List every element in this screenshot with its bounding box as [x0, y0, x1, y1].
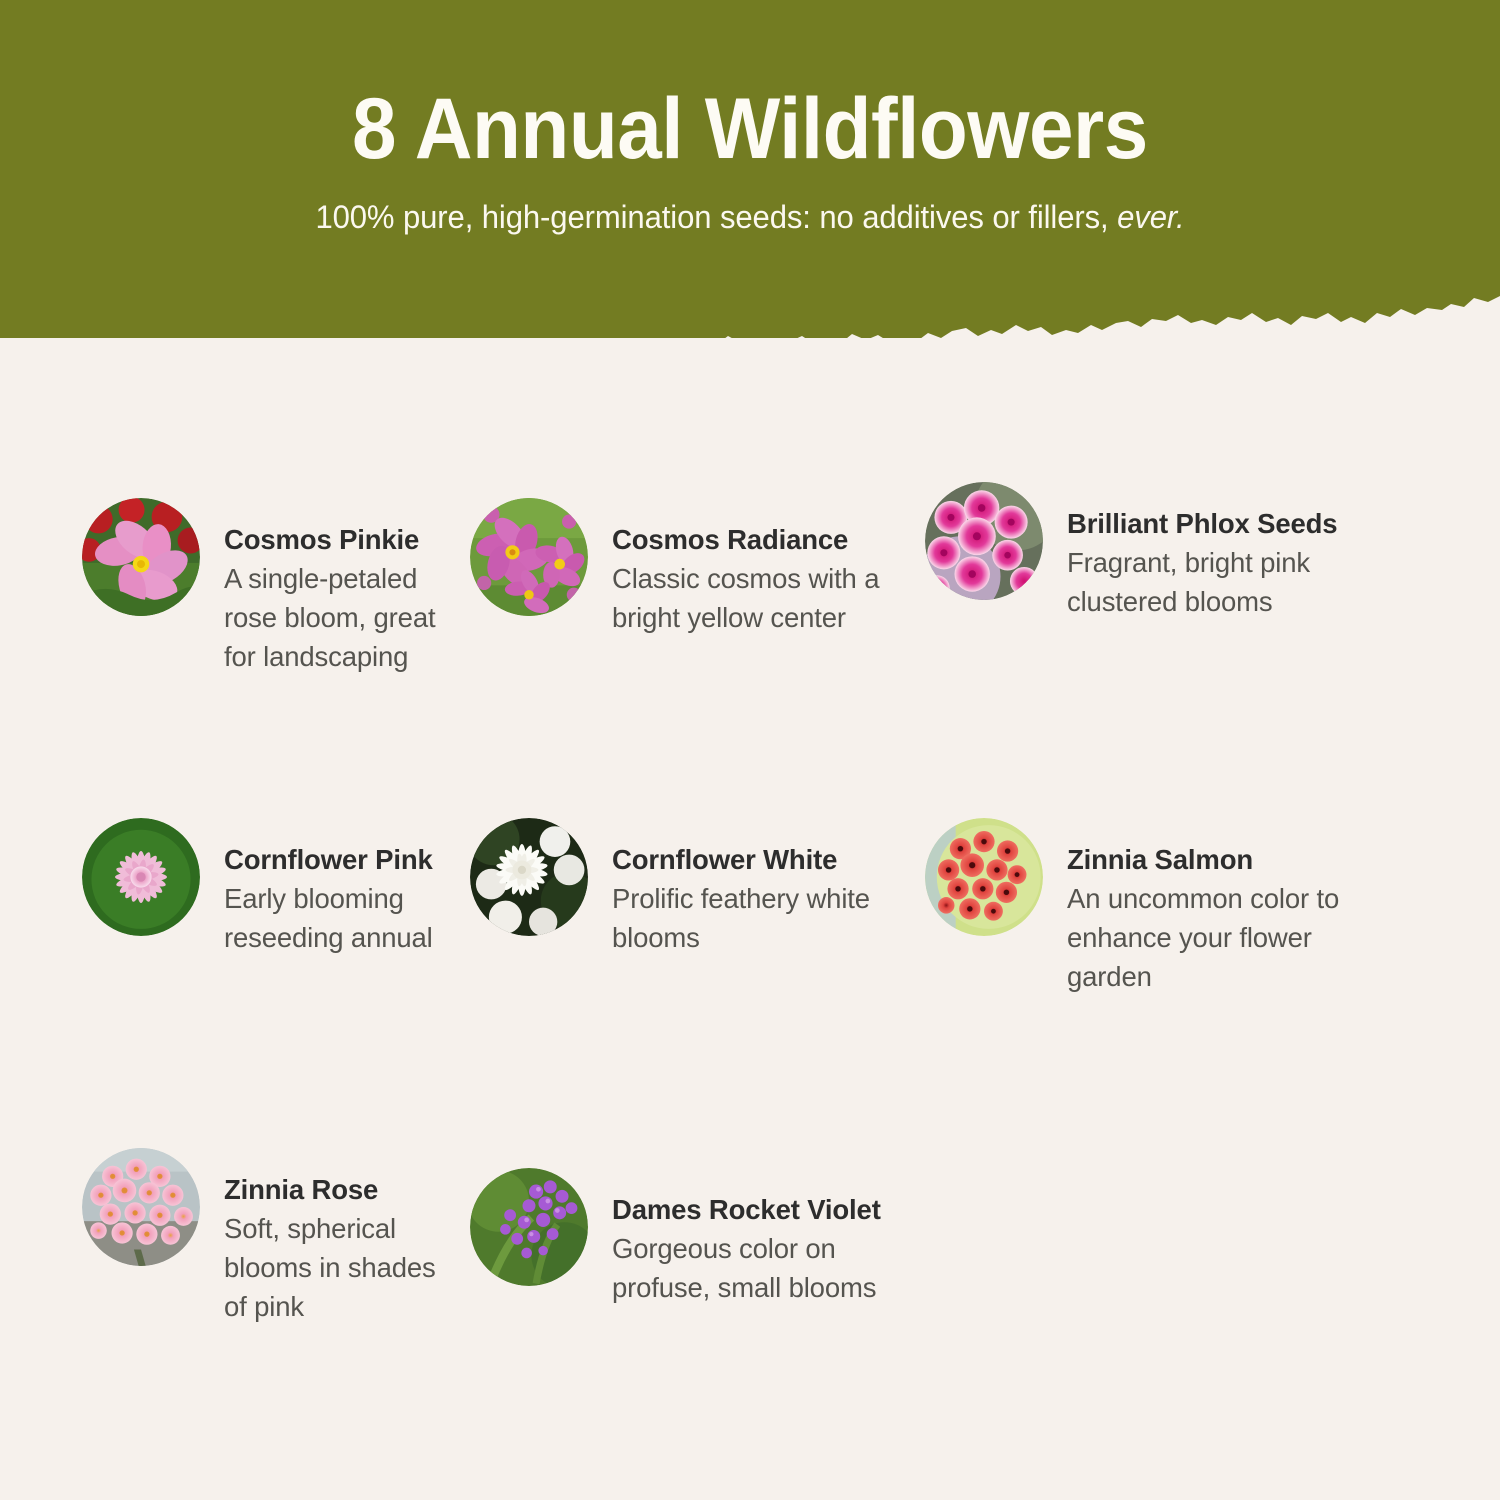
- list-item-title: Brilliant Phlox Seeds: [1067, 504, 1367, 543]
- subtitle-text: 100% pure, high-germination seeds: no ad…: [315, 199, 1117, 235]
- zinnia-salmon-photo: [925, 818, 1043, 936]
- subtitle-emphasis: ever.: [1117, 199, 1184, 235]
- flower-row: Zinnia Rose Soft, spherical blooms in sh…: [0, 1148, 1500, 1328]
- flower-row: Cornflower Pink Early blooming reseeding…: [0, 818, 1500, 1148]
- list-item-description: Early blooming reseeding annual: [224, 879, 460, 957]
- list-item-title: Zinnia Salmon: [1067, 840, 1367, 879]
- list-item-title: Cornflower Pink: [224, 840, 460, 879]
- list-item-description: Gorgeous color on profuse, small blooms: [612, 1229, 915, 1307]
- list-item-description: An uncommon color to enhance your flower…: [1067, 879, 1367, 996]
- list-item-text: Dames Rocket Violet Gorgeous color on pr…: [612, 1168, 915, 1307]
- flower-row: Cosmos Pinkie A single-petaled rose bloo…: [0, 470, 1500, 818]
- cornflower-white-photo: [470, 818, 588, 936]
- header-banner: 8 Annual Wildflowers 100% pure, high-ger…: [0, 0, 1500, 338]
- list-item[interactable]: Cosmos Pinkie A single-petaled rose bloo…: [0, 470, 460, 818]
- list-item-description: Fragrant, bright pink clustered blooms: [1067, 543, 1367, 621]
- list-item-title: Dames Rocket Violet: [612, 1190, 915, 1229]
- flower-list: Cosmos Pinkie A single-petaled rose bloo…: [0, 470, 1500, 1328]
- brilliant-phlox-photo: [925, 482, 1043, 600]
- list-item-text: Cornflower Pink Early blooming reseeding…: [224, 818, 460, 957]
- list-item-title: Zinnia Rose: [224, 1170, 460, 1209]
- list-item[interactable]: Cosmos Radiance Classic cosmos with a br…: [460, 470, 915, 818]
- list-item-title: Cornflower White: [612, 840, 902, 879]
- list-item[interactable]: Cornflower White Prolific feathery white…: [460, 818, 915, 1148]
- list-item[interactable]: Dames Rocket Violet Gorgeous color on pr…: [460, 1148, 915, 1328]
- list-item-description: Classic cosmos with a bright yellow cent…: [612, 559, 902, 637]
- list-item-title: Cosmos Radiance: [612, 520, 902, 559]
- cornflower-pink-photo: [82, 818, 200, 936]
- list-item-description: A single-petaled rose bloom, great for l…: [224, 559, 460, 676]
- list-item[interactable]: Zinnia Salmon An uncommon color to enhan…: [915, 818, 1415, 1148]
- list-item[interactable]: Cornflower Pink Early blooming reseeding…: [0, 818, 460, 1148]
- list-item-text: Cosmos Radiance Classic cosmos with a br…: [612, 498, 902, 637]
- list-item-description: Prolific feathery white blooms: [612, 879, 902, 957]
- list-item-title: Cosmos Pinkie: [224, 520, 460, 559]
- list-item-description: Soft, spherical blooms in shades of pink: [224, 1209, 460, 1326]
- cosmos-radiance-photo: [470, 498, 588, 616]
- page-subtitle: 100% pure, high-germination seeds: no ad…: [315, 199, 1184, 236]
- zinnia-rose-photo: [82, 1148, 200, 1266]
- list-item-text: Cornflower White Prolific feathery white…: [612, 818, 902, 957]
- dames-rocket-violet-photo: [470, 1168, 588, 1286]
- cosmos-pinkie-photo: [82, 498, 200, 616]
- list-item-text: Cosmos Pinkie A single-petaled rose bloo…: [224, 498, 460, 676]
- list-item-text: Zinnia Rose Soft, spherical blooms in sh…: [224, 1148, 460, 1326]
- list-item-text: Zinnia Salmon An uncommon color to enhan…: [1067, 818, 1367, 996]
- list-item[interactable]: Zinnia Rose Soft, spherical blooms in sh…: [0, 1148, 460, 1328]
- list-item-text: Brilliant Phlox Seeds Fragrant, bright p…: [1067, 482, 1367, 621]
- page-title: 8 Annual Wildflowers: [352, 86, 1148, 172]
- list-item[interactable]: Brilliant Phlox Seeds Fragrant, bright p…: [915, 470, 1415, 818]
